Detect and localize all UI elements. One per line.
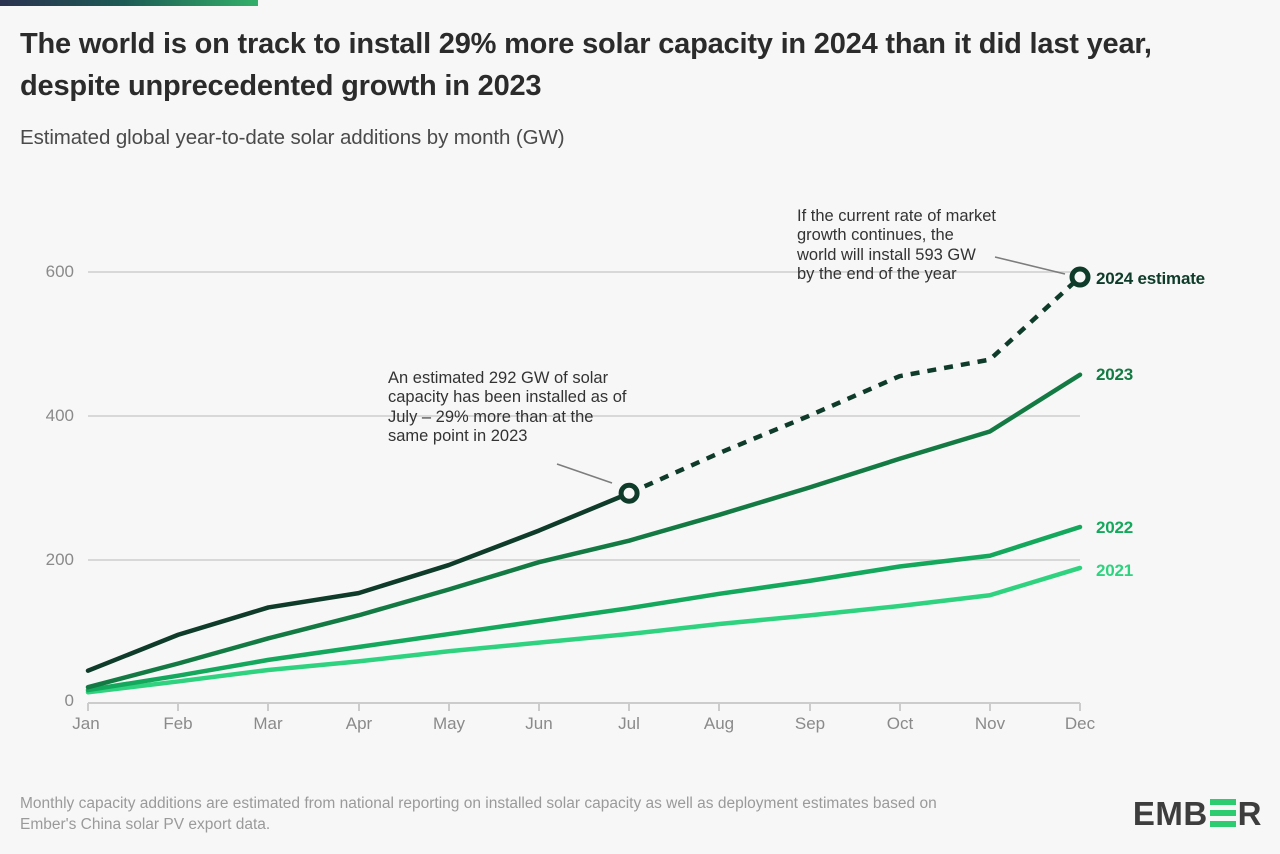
series-label-2023[interactable]: 2023 <box>1096 365 1133 385</box>
logo-green-e-icon <box>1210 799 1236 827</box>
leader-line-left <box>557 464 612 483</box>
ember-logo: EMB R <box>1133 796 1262 830</box>
series-lines <box>88 277 1080 692</box>
x-tick-label-nov: Nov <box>960 714 1020 734</box>
series-label-2022[interactable]: 2022 <box>1096 518 1133 538</box>
x-tick-label-oct: Oct <box>870 714 930 734</box>
x-tick-label-dec: Dec <box>1050 714 1110 734</box>
series-line-2021 <box>88 568 1080 692</box>
series-label-2021[interactable]: 2021 <box>1096 561 1133 581</box>
y-tick-label-0: 0 <box>10 691 74 711</box>
marker-dec-2024[interactable] <box>1072 269 1088 285</box>
footnote: Monthly capacity additions are estimated… <box>20 794 980 836</box>
logo-text-emb: EMB <box>1133 797 1208 830</box>
annotation-july: An estimated 292 GW of solar capacity ha… <box>388 369 628 446</box>
series-label-2024[interactable]: 2024 estimate <box>1096 269 1205 289</box>
x-tick-label-jun: Jun <box>509 714 569 734</box>
x-tick-label-mar: Mar <box>238 714 298 734</box>
x-tick-label-may: May <box>419 714 479 734</box>
y-tick-label-600: 600 <box>10 262 74 282</box>
x-axis <box>88 703 1080 711</box>
data-point-markers <box>621 269 1088 501</box>
x-tick-label-jan: Jan <box>56 714 116 734</box>
y-tick-label-200: 200 <box>10 550 74 570</box>
x-tick-label-apr: Apr <box>329 714 389 734</box>
annotation-december: If the current rate of market growth con… <box>797 207 997 284</box>
y-tick-label-400: 400 <box>10 406 74 426</box>
x-tick-label-sep: Sep <box>780 714 840 734</box>
x-tick-label-jul: Jul <box>599 714 659 734</box>
series-line-2024-actual <box>88 493 629 670</box>
marker-jul-2024[interactable] <box>621 485 637 501</box>
annotation-leaders <box>557 257 1065 483</box>
series-line-2024-projection <box>629 277 1080 493</box>
logo-text-r: R <box>1238 797 1262 830</box>
x-tick-label-aug: Aug <box>689 714 749 734</box>
x-tick-label-feb: Feb <box>148 714 208 734</box>
